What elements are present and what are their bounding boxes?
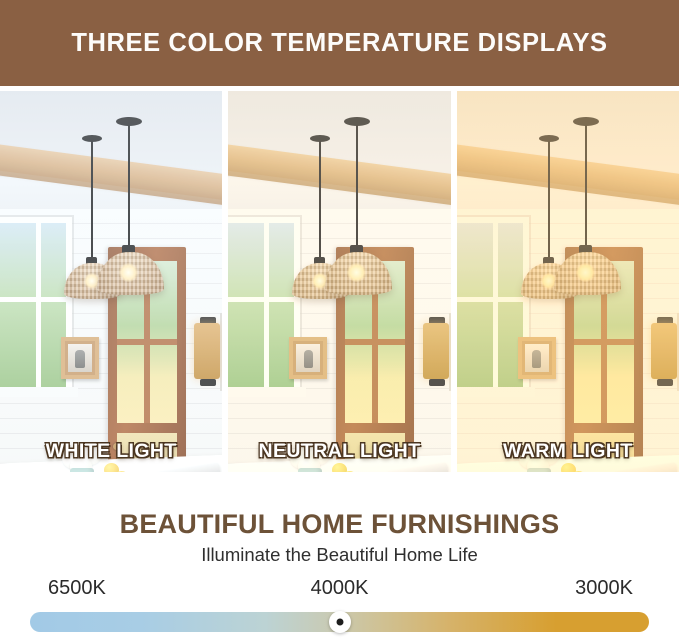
kelvin-label-4000k: 4000K xyxy=(311,577,369,600)
kelvin-label-3000k: 3000K xyxy=(575,577,633,600)
slider-knob[interactable] xyxy=(329,611,351,633)
product-infographic: THREE COLOR TEMPERATURE DISPLAYS xyxy=(0,0,679,641)
kitchen-scene xyxy=(228,91,450,472)
wall-sconce-icon xyxy=(194,323,220,379)
sconce-base xyxy=(200,379,216,386)
lemon-icon xyxy=(561,463,576,472)
lemon-icon xyxy=(332,463,347,472)
framed-art-icon xyxy=(518,337,556,379)
kitchen-scene xyxy=(457,91,679,472)
sconce-base xyxy=(657,379,673,386)
panel-caption: NEUTRAL LIGHT xyxy=(228,440,450,463)
wall-sconce-icon xyxy=(423,323,449,379)
sconce-backplate xyxy=(220,313,222,391)
panel-caption: WHITE LIGHT xyxy=(0,440,222,463)
panel-warm-light: WARM LIGHT xyxy=(457,91,679,472)
window-sill xyxy=(228,387,306,397)
header-banner: THREE COLOR TEMPERATURE DISPLAYS xyxy=(0,0,679,86)
window-mullion-vertical xyxy=(493,223,498,387)
window-sill xyxy=(0,387,78,397)
pendant-cord xyxy=(585,125,587,249)
pendant-cord xyxy=(548,141,550,261)
window-mullion-horizontal xyxy=(457,297,523,302)
footer-title: BEAUTIFUL HOME FURNISHINGS xyxy=(0,509,679,540)
framed-art-icon xyxy=(61,337,99,379)
kitchen-scene xyxy=(0,91,222,472)
pendant-cord xyxy=(319,141,321,261)
door-mullion-horizontal xyxy=(345,339,405,345)
footer-subtitle: Illuminate the Beautiful Home Life xyxy=(0,544,679,566)
slider-knob-dot xyxy=(336,619,343,626)
kelvin-tick-labels: 6500K 4000K 3000K xyxy=(30,577,649,605)
framed-art-subject xyxy=(304,350,314,367)
framed-art-subject xyxy=(532,350,542,367)
light-bulb-icon xyxy=(119,263,138,282)
pendant-cord xyxy=(356,125,358,249)
panel-neutral-light: NEUTRAL LIGHT xyxy=(228,91,450,472)
kelvin-label-6500k: 6500K xyxy=(48,577,106,600)
panel-caption: WARM LIGHT xyxy=(457,440,679,463)
door-mullion-horizontal xyxy=(117,339,177,345)
pendant-cord xyxy=(128,125,130,249)
comparison-panels: WHITE LIGHT xyxy=(0,91,679,472)
footer-section: BEAUTIFUL HOME FURNISHINGS Illuminate th… xyxy=(0,472,679,641)
pendant-cord xyxy=(91,141,93,261)
wall-sconce-icon xyxy=(651,323,677,379)
color-temperature-slider[interactable] xyxy=(30,612,649,632)
sconce-base xyxy=(429,379,445,386)
light-bulb-icon xyxy=(576,263,595,282)
window-sill xyxy=(457,387,535,397)
panel-white-light: WHITE LIGHT xyxy=(0,91,222,472)
window-mullion-vertical xyxy=(36,223,41,387)
door-mullion-horizontal xyxy=(574,339,634,345)
window-mullion-horizontal xyxy=(0,297,66,302)
framed-art-mat xyxy=(296,344,320,372)
banner-title: THREE COLOR TEMPERATURE DISPLAYS xyxy=(71,29,607,58)
window-mullion-horizontal xyxy=(228,297,294,302)
window-mullion-vertical xyxy=(264,223,269,387)
framed-art-subject xyxy=(75,350,85,367)
sconce-backplate xyxy=(449,313,451,391)
lemon-icon xyxy=(104,463,119,472)
framed-art-mat xyxy=(525,344,549,372)
framed-art-mat xyxy=(68,344,92,372)
framed-art-icon xyxy=(289,337,327,379)
